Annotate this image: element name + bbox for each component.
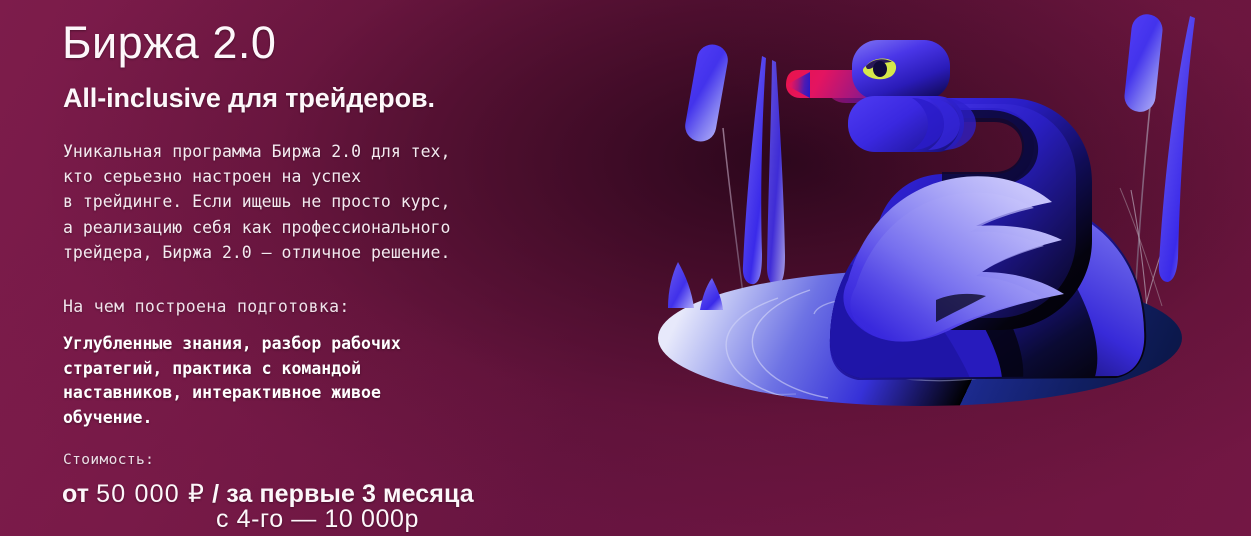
section-body: Углубленные знания, разбор рабочих страт…	[63, 332, 401, 430]
page-subtitle: All-inclusive для трейдеров.	[63, 83, 435, 114]
price-amount: 50 000 ₽	[96, 480, 205, 508]
intro-paragraph: Уникальная программа Биржа 2.0 для тех, …	[63, 139, 450, 265]
reed-blade-left	[743, 56, 785, 285]
swan-head-group	[786, 40, 976, 152]
section-label: На чем построена подготовка:	[63, 297, 350, 316]
reed-blade-right	[1159, 16, 1195, 282]
swan-on-lake-illustration	[650, 0, 1251, 536]
price-label: Стоимость:	[63, 452, 154, 468]
text-column: Биржа 2.0 All-inclusive для трейдеров. У…	[62, 0, 682, 536]
promo-slide: Биржа 2.0 All-inclusive для трейдеров. У…	[0, 0, 1251, 536]
price-secondary: с 4-го — 10 000р	[62, 505, 573, 534]
cattail-left	[683, 42, 743, 294]
page-title: Биржа 2.0	[62, 17, 276, 69]
price-suffix: / за первые 3 месяца	[205, 480, 474, 508]
price-prefix: от	[62, 480, 96, 508]
